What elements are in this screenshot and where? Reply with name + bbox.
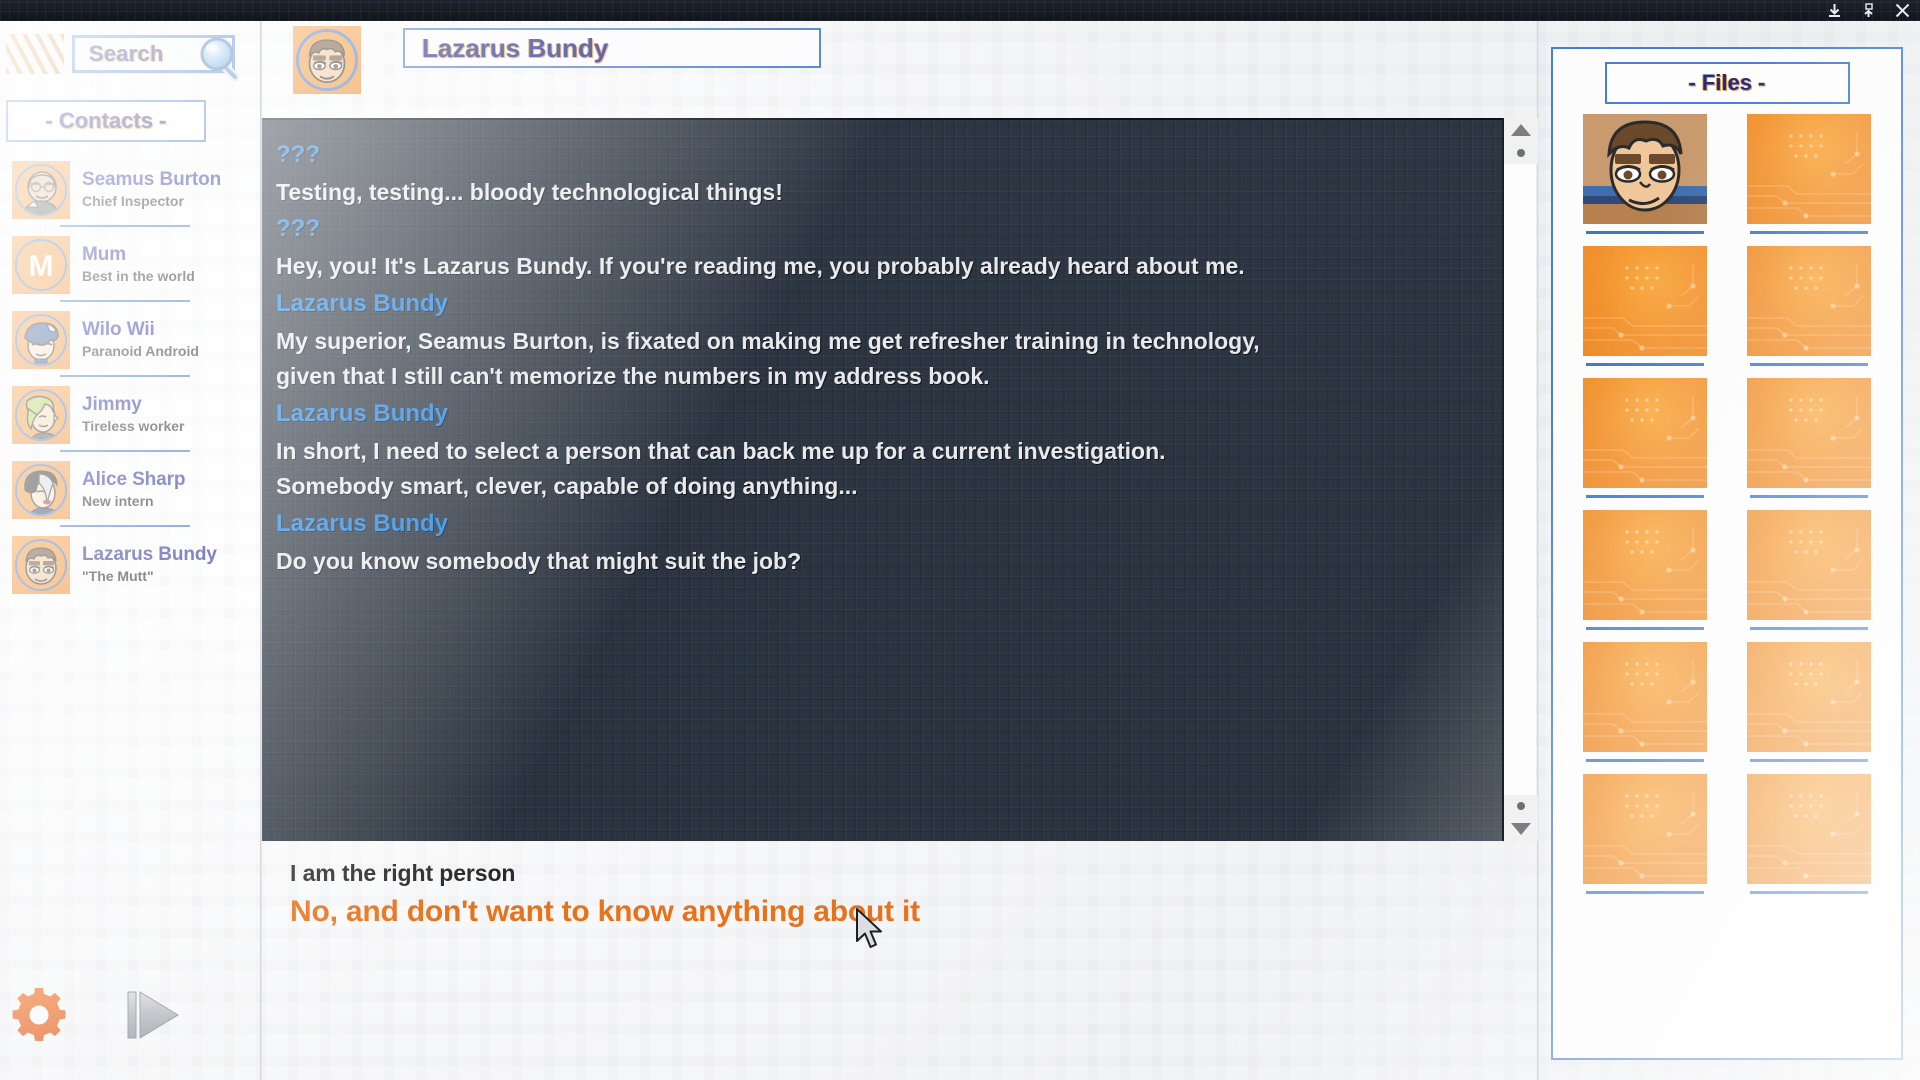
- file-separator: [1586, 891, 1704, 894]
- files-header: - Files -: [1605, 62, 1850, 104]
- file-item[interactable]: [1731, 114, 1887, 242]
- file-placeholder: [1747, 114, 1871, 224]
- files-header-label: - Files -: [1688, 70, 1765, 96]
- message-list: ??? Testing, testing... bloody technolog…: [262, 120, 1502, 579]
- maximize-button[interactable]: [1858, 2, 1878, 19]
- sidebar: [0, 21, 261, 1080]
- scroll-down-step-button[interactable]: [1504, 795, 1538, 817]
- message-text: Testing, testing... bloody technological…: [276, 175, 1276, 211]
- file-placeholder: [1747, 510, 1871, 620]
- file-placeholder: [1747, 246, 1871, 356]
- message-text: My superior, Seamus Burton, is fixated o…: [276, 324, 1276, 395]
- message-speaker: Lazarus Bundy: [276, 287, 1480, 322]
- message-text: Hey, you! It's Lazarus Bundy. If you're …: [276, 249, 1276, 285]
- files-panel: - Files -: [1551, 47, 1903, 1060]
- file-separator: [1750, 891, 1868, 894]
- scrollbar-track[interactable]: [1504, 164, 1536, 795]
- chat-scrollbar[interactable]: [1502, 118, 1536, 841]
- file-separator: [1586, 759, 1704, 762]
- lazarus-avatar: [296, 29, 358, 91]
- file-item[interactable]: [1567, 774, 1723, 902]
- dot-icon: [1517, 149, 1525, 157]
- file-separator: [1586, 231, 1704, 234]
- file-separator: [1586, 363, 1704, 366]
- message-speaker: Lazarus Bundy: [276, 397, 1480, 432]
- file-item[interactable]: [1567, 114, 1723, 242]
- message-text: In short, I need to select a person that…: [276, 434, 1276, 505]
- chat-panel: ??? Testing, testing... bloody technolog…: [262, 118, 1502, 841]
- minimize-button[interactable]: [1824, 2, 1844, 19]
- file-item[interactable]: [1567, 510, 1723, 638]
- message-speaker: ???: [276, 138, 1480, 173]
- chat-title-bar: Lazarus Bundy: [403, 28, 821, 68]
- file-separator: [1750, 495, 1868, 498]
- right-divider: [1537, 21, 1539, 1080]
- file-placeholder: [1747, 378, 1871, 488]
- file-placeholder: [1583, 642, 1707, 752]
- dialogue-choice-2[interactable]: No, and don't want to know anything abou…: [290, 895, 1502, 929]
- file-separator: [1750, 231, 1868, 234]
- file-item[interactable]: [1567, 642, 1723, 770]
- file-separator: [1750, 759, 1868, 762]
- file-item[interactable]: [1567, 378, 1723, 506]
- file-item[interactable]: [1731, 246, 1887, 374]
- file-separator: [1750, 627, 1868, 630]
- scroll-up-button[interactable]: [1504, 118, 1538, 142]
- file-item[interactable]: [1567, 246, 1723, 374]
- message-speaker: ???: [276, 212, 1480, 247]
- file-item[interactable]: [1731, 378, 1887, 506]
- file-placeholder: [1747, 774, 1871, 884]
- file-placeholder: [1583, 510, 1707, 620]
- file-separator: [1750, 363, 1868, 366]
- lazarus-portrait: [1583, 114, 1707, 224]
- close-button[interactable]: [1892, 2, 1912, 19]
- title-bar: [0, 0, 1920, 21]
- file-placeholder: [1583, 246, 1707, 356]
- dialogue-choice-1[interactable]: I am the right person: [290, 860, 1502, 887]
- files-grid: [1553, 114, 1901, 902]
- scroll-up-step-button[interactable]: [1504, 142, 1538, 164]
- message-text: Do you know somebody that might suit the…: [276, 544, 1276, 580]
- file-placeholder: [1747, 642, 1871, 752]
- message-speaker: Lazarus Bundy: [276, 507, 1480, 542]
- file-separator: [1586, 627, 1704, 630]
- mouse-cursor-icon: [855, 908, 889, 952]
- file-item[interactable]: [1731, 774, 1887, 902]
- left-divider: [260, 21, 262, 1080]
- dot-icon: [1517, 802, 1525, 810]
- app-window: Search - Contac: [0, 0, 1920, 1080]
- chat-header-avatar: [293, 26, 361, 94]
- file-item[interactable]: [1731, 642, 1887, 770]
- file-placeholder: [1583, 774, 1707, 884]
- file-item[interactable]: [1731, 510, 1887, 638]
- file-separator: [1586, 495, 1704, 498]
- scroll-down-button[interactable]: [1504, 817, 1538, 841]
- chat-title-label: Lazarus Bundy: [405, 33, 608, 64]
- file-placeholder: [1583, 378, 1707, 488]
